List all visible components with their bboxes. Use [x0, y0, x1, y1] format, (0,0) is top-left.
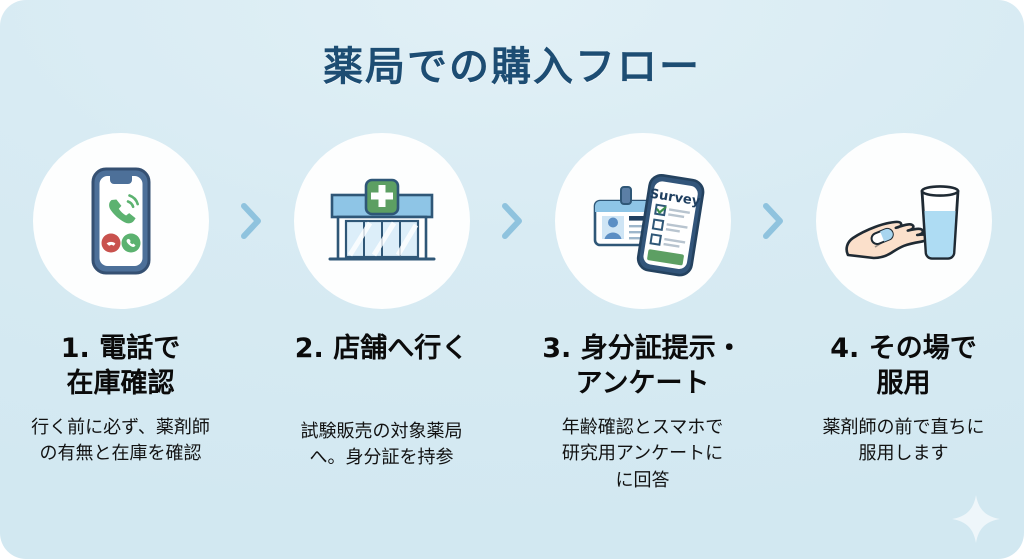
chevron-right-icon — [758, 199, 788, 243]
step-4-description: 薬剤師の前で直ちに 服用します — [823, 415, 985, 468]
survey-phone-icon: Survey — [636, 174, 704, 277]
sparkle-icon — [948, 491, 1004, 547]
hand-with-pill-and-water-glass-icon — [834, 151, 974, 291]
flow-step-4: 4. その場で 服用 薬剤師の前で直ちに 服用します — [801, 133, 1006, 468]
step-2-title: 2. 店舗へ行く — [295, 331, 468, 366]
infographic-poster: 薬局での購入フロー — [0, 0, 1024, 559]
flow-step-2: 2. 店舗へ行く 試験販売の対象薬局 へ。身分証を持参 — [279, 133, 484, 472]
step-4-icon-bubble — [816, 133, 992, 309]
step-3-description: 年齢確認とスマホで 研究用アンケートに に回答 — [562, 415, 723, 494]
step-3-icon-bubble: Survey — [555, 133, 731, 309]
flow-steps-row: 1. 電話で 在庫確認 行く前に必ず、薬剤師 の有無と在庫を確認 — [0, 133, 1024, 494]
chevron-right-icon — [236, 199, 266, 243]
step-1-description: 行く前に必ず、薬剤師 の有無と在庫を確認 — [31, 415, 210, 468]
step-3-title: 3. 身分証提示・ アンケート — [542, 331, 742, 401]
page-title: 薬局での購入フロー — [323, 34, 701, 92]
id-card-and-survey-phone-icon: Survey — [573, 151, 713, 291]
step-2-icon-bubble — [294, 133, 470, 309]
flow-arrow-1 — [223, 133, 279, 309]
water-glass-icon — [922, 186, 958, 258]
chevron-right-icon — [497, 199, 527, 243]
flow-arrow-3 — [745, 133, 801, 309]
step-2-description: 試験販売の対象薬局 へ。身分証を持参 — [301, 419, 463, 472]
step-1-title: 1. 電話で 在庫確認 — [61, 331, 180, 401]
flow-step-1: 1. 電話で 在庫確認 行く前に必ず、薬剤師 の有無と在庫を確認 — [18, 133, 223, 468]
accept-call-button — [121, 234, 140, 253]
pharmacy-storefront-icon — [312, 151, 452, 291]
smartphone-incoming-call-icon — [51, 151, 191, 291]
step-1-icon-bubble — [33, 133, 209, 309]
step-4-title: 4. その場で 服用 — [830, 331, 976, 401]
flow-arrow-2 — [484, 133, 540, 309]
flow-step-3: Survey 3. 身分証提示・ アンケート — [540, 133, 745, 494]
title-container: 薬局での購入フロー — [0, 34, 1024, 92]
